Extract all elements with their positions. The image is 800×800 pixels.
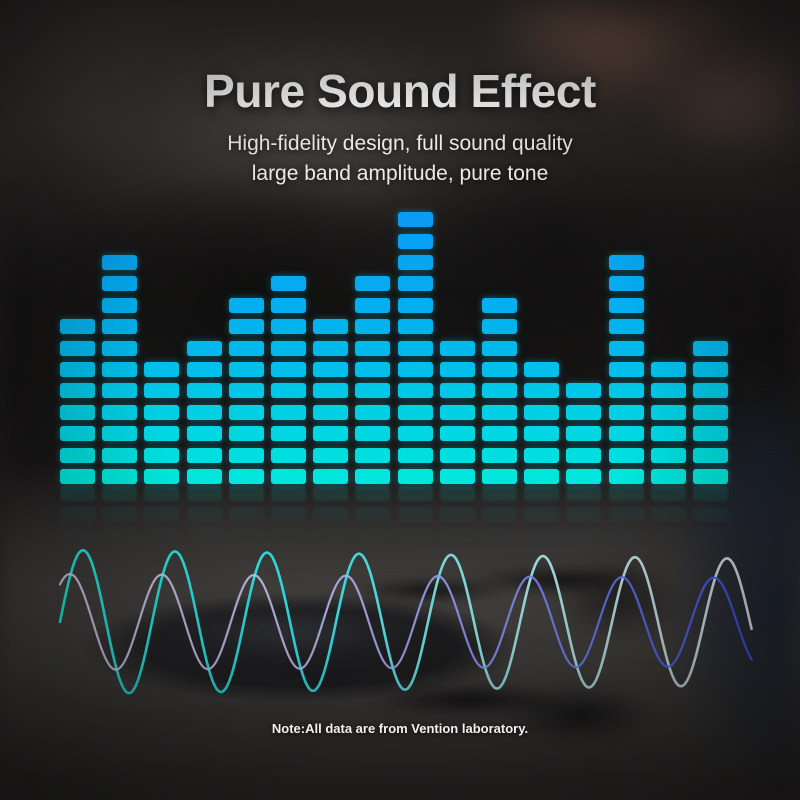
sound-effect-banner: Pure Sound Effect High-fidelity design, …	[0, 0, 800, 800]
background-vignette	[0, 0, 800, 800]
footnote: Note:All data are from Vention laborator…	[0, 721, 800, 736]
